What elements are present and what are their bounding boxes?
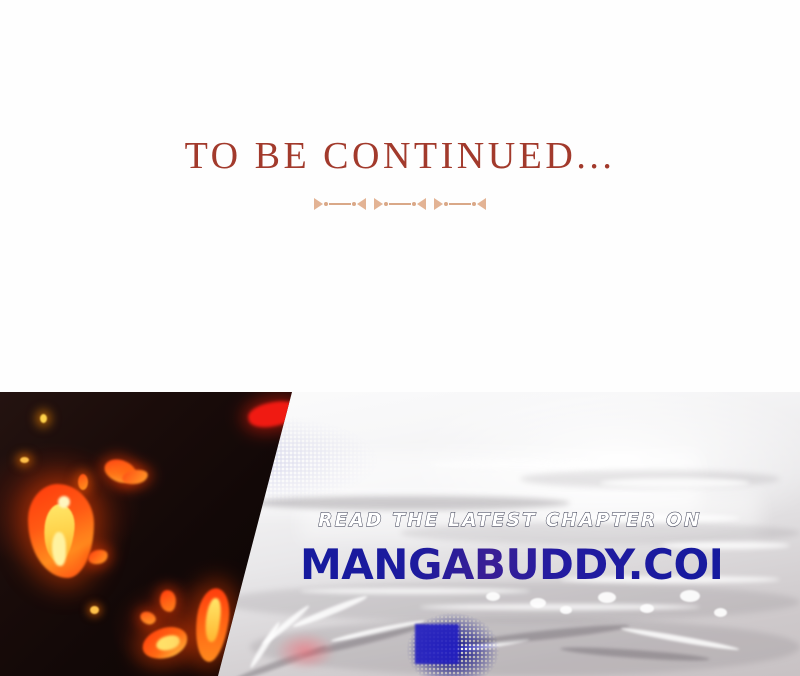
water-bubble — [560, 606, 572, 614]
water-bubble — [530, 598, 546, 608]
light-streak — [600, 478, 750, 488]
ember-spark — [20, 457, 29, 463]
ornament-dot-icon — [384, 202, 388, 206]
water-bubble — [714, 608, 727, 617]
light-streak — [430, 460, 610, 469]
water-bubble — [598, 592, 616, 603]
page-white-area: TO BE CONTINUED... — [0, 0, 800, 392]
dither-core-blob — [415, 624, 459, 664]
ornament-segment — [314, 198, 366, 210]
ornament-dot-icon — [472, 202, 476, 206]
ornament-dot-icon — [352, 202, 356, 206]
ornament-right-wing-icon — [477, 198, 486, 210]
ornament-line-icon — [389, 203, 411, 205]
ornament-dot-icon — [444, 202, 448, 206]
ornament-dot-icon — [412, 202, 416, 206]
ornament-segment — [374, 198, 426, 210]
ornament-line-icon — [329, 203, 351, 205]
ember-spark — [159, 589, 177, 613]
water-bubble — [680, 590, 700, 602]
water-bubble — [640, 604, 654, 613]
light-streak — [540, 514, 740, 522]
ornament-line-icon — [449, 203, 471, 205]
mountain-ridge — [400, 522, 800, 544]
ornament-dot-icon — [324, 202, 328, 206]
color-blob — [275, 632, 335, 670]
ember-spark — [138, 609, 157, 626]
promo-banner[interactable]: READ THE LATEST CHAPTER ON MANGABUDDY.CO… — [0, 392, 800, 676]
light-streak — [560, 576, 780, 583]
ornament-segment — [434, 198, 486, 210]
manga-page: 1STKISSMANGA.ME TO BE CONTINUED... — [0, 0, 800, 676]
decorative-divider-icon — [0, 192, 800, 216]
ground-shade — [220, 582, 800, 622]
ember-spark — [78, 474, 88, 490]
ornament-left-wing-icon — [374, 198, 383, 210]
to-be-continued-text: TO BE CONTINUED... — [0, 134, 800, 178]
ornament-left-wing-icon — [314, 198, 323, 210]
ember-spark — [40, 414, 47, 423]
ornament-right-wing-icon — [357, 198, 366, 210]
light-streak — [660, 542, 790, 549]
ember-core-bright — [52, 532, 66, 566]
ornament-left-wing-icon — [434, 198, 443, 210]
ember-spark — [90, 606, 99, 614]
ornament-right-wing-icon — [417, 198, 426, 210]
ember-core-bright — [58, 496, 70, 508]
